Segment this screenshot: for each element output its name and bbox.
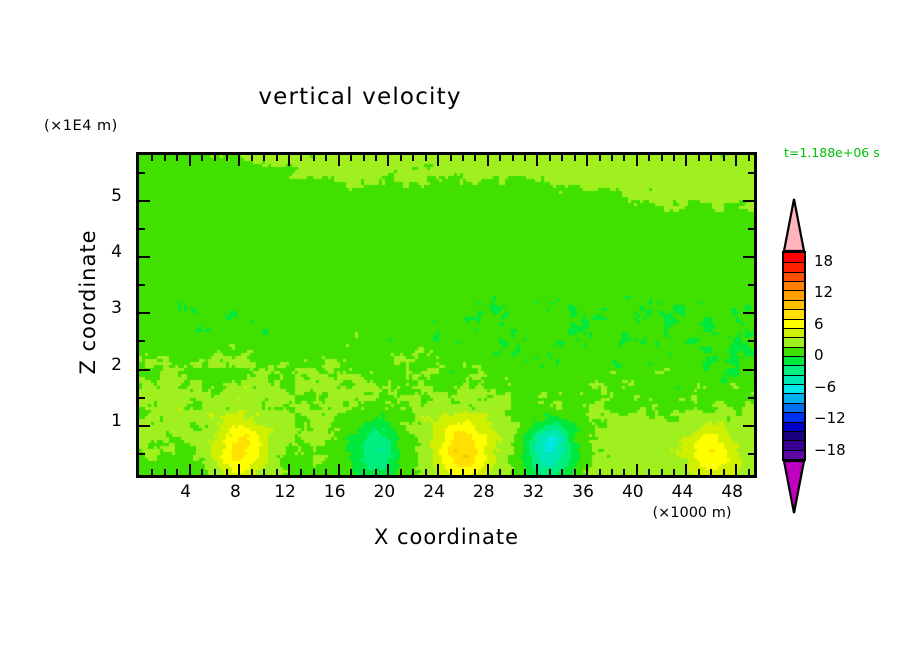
x-axis-tick-label: 48	[712, 482, 752, 502]
y-axis-major-tick	[743, 256, 754, 258]
colorbar-band-divider	[784, 440, 804, 441]
x-axis-minor-tick	[710, 469, 712, 475]
x-axis-minor-tick	[648, 155, 650, 161]
x-axis-minor-tick	[673, 155, 675, 161]
x-axis-minor-tick	[425, 155, 427, 161]
x-axis-minor-tick	[462, 155, 464, 161]
x-axis-minor-tick	[450, 155, 452, 161]
colorbar-band-divider	[784, 356, 804, 357]
x-axis-major-tick	[536, 464, 538, 475]
x-axis-major-tick	[437, 155, 439, 166]
x-axis-minor-tick	[599, 155, 601, 161]
x-axis-major-tick	[387, 464, 389, 475]
colorbar-band-divider	[784, 328, 804, 329]
x-axis-minor-tick	[661, 469, 663, 475]
colorbar-band-divider	[784, 290, 804, 291]
timestamp-label: t=1.188e+06 s	[784, 145, 880, 160]
y-axis-minor-tick	[748, 228, 754, 230]
y-axis-minor-tick	[139, 397, 145, 399]
colorbar-band	[784, 403, 804, 413]
x-axis-minor-tick	[375, 155, 377, 161]
y-axis-minor-tick	[748, 284, 754, 286]
x-axis-major-tick	[487, 464, 489, 475]
x-axis-minor-tick	[524, 469, 526, 475]
x-axis-minor-tick	[698, 155, 700, 161]
colorbar-band	[784, 300, 804, 310]
x-axis-minor-tick	[313, 155, 315, 161]
velocity-field-canvas	[139, 155, 757, 478]
x-axis-tick-label: 28	[464, 482, 504, 502]
colorbar-band	[784, 337, 804, 347]
x-axis-tick-label: 40	[613, 482, 653, 502]
colorbar-under-arrow	[782, 459, 806, 515]
colorbar-band	[784, 440, 804, 450]
colorbar-band-divider	[784, 309, 804, 310]
y-axis-minor-tick	[139, 453, 145, 455]
x-axis-major-tick	[338, 464, 340, 475]
colorbar-band	[784, 431, 804, 441]
colorbar-band-divider	[784, 384, 804, 385]
x-axis-major-tick	[288, 464, 290, 475]
colorbar-over-arrow	[782, 197, 806, 253]
x-axis-major-tick	[387, 155, 389, 166]
y-axis-tick-label: 4	[96, 242, 122, 262]
colorbar-band-divider	[784, 300, 804, 301]
x-axis-major-tick	[189, 155, 191, 166]
x-axis-major-tick	[238, 155, 240, 166]
x-axis-minor-tick	[425, 469, 427, 475]
y-axis-minor-tick	[748, 453, 754, 455]
y-axis-minor-tick	[748, 340, 754, 342]
x-axis-minor-tick	[226, 469, 228, 475]
x-axis-minor-tick	[263, 155, 265, 161]
x-axis-minor-tick	[549, 469, 551, 475]
x-axis-minor-tick	[164, 469, 166, 475]
colorbar-tick-label: −12	[814, 409, 846, 427]
x-axis-minor-tick	[176, 155, 178, 161]
colorbar-band-divider	[784, 431, 804, 432]
x-axis-minor-tick	[648, 469, 650, 475]
x-axis-minor-tick	[673, 469, 675, 475]
y-axis-minor-tick	[139, 340, 145, 342]
x-axis-minor-tick	[748, 469, 750, 475]
x-axis-tick-label: 32	[513, 482, 553, 502]
colorbar-band-divider	[784, 450, 804, 451]
y-axis-minor-tick	[139, 228, 145, 230]
x-axis-minor-tick	[574, 155, 576, 161]
x-axis-minor-tick	[226, 155, 228, 161]
colorbar-band	[784, 347, 804, 357]
x-axis-minor-tick	[325, 155, 327, 161]
x-axis-minor-tick	[214, 469, 216, 475]
x-axis-minor-tick	[499, 155, 501, 161]
x-axis-minor-tick	[313, 469, 315, 475]
x-axis-major-tick	[238, 464, 240, 475]
x-axis-minor-tick	[623, 469, 625, 475]
x-axis-minor-tick	[561, 155, 563, 161]
x-axis-minor-tick	[748, 155, 750, 161]
colorbar: 181260−6−12−18	[782, 197, 806, 515]
colorbar-band-divider	[784, 281, 804, 282]
colorbar-band	[784, 384, 804, 394]
x-axis-minor-tick	[611, 469, 613, 475]
x-axis-minor-tick	[363, 155, 365, 161]
y-axis-minor-tick	[748, 397, 754, 399]
colorbar-band-divider	[784, 393, 804, 394]
chart-title: vertical velocity	[0, 84, 720, 110]
x-axis-major-tick	[685, 155, 687, 166]
x-axis-minor-tick	[400, 469, 402, 475]
x-axis-tick-label: 44	[662, 482, 702, 502]
x-axis-major-tick	[636, 155, 638, 166]
x-axis-minor-tick	[350, 155, 352, 161]
colorbar-tick-label: 6	[814, 315, 824, 333]
colorbar-tick-label: 18	[814, 252, 833, 270]
x-axis-major-tick	[636, 464, 638, 475]
x-axis-minor-tick	[176, 469, 178, 475]
x-axis-minor-tick	[350, 469, 352, 475]
colorbar-band	[784, 356, 804, 366]
y-axis-major-tick	[139, 256, 150, 258]
colorbar-tick-label: 12	[814, 283, 833, 301]
x-axis-minor-tick	[263, 469, 265, 475]
y-axis-minor-tick	[139, 284, 145, 286]
x-axis-minor-tick	[325, 469, 327, 475]
x-axis-minor-tick	[462, 469, 464, 475]
colorbar-band	[784, 375, 804, 385]
x-axis-minor-tick	[251, 155, 253, 161]
colorbar-band	[784, 272, 804, 282]
colorbar-band	[784, 422, 804, 432]
colorbar-band	[784, 281, 804, 291]
x-axis-major-tick	[536, 155, 538, 166]
x-axis-minor-tick	[363, 469, 365, 475]
x-axis-minor-tick	[661, 155, 663, 161]
colorbar-tick-label: −6	[814, 378, 836, 396]
x-axis-minor-tick	[400, 155, 402, 161]
y-axis-units: (×1E4 m)	[44, 118, 118, 134]
colorbar-band-divider	[784, 365, 804, 366]
colorbar-band	[784, 328, 804, 338]
y-axis-major-tick	[139, 312, 150, 314]
colorbar-tick-label: −18	[814, 441, 846, 459]
colorbar-band-divider	[784, 272, 804, 273]
colorbar-band	[784, 365, 804, 375]
colorbar-band-divider	[784, 347, 804, 348]
x-axis-major-tick	[338, 155, 340, 166]
colorbar-band-divider	[784, 422, 804, 423]
x-axis-minor-tick	[474, 155, 476, 161]
y-axis-major-tick	[743, 369, 754, 371]
colorbar-band	[784, 393, 804, 403]
x-axis-minor-tick	[450, 469, 452, 475]
x-axis-minor-tick	[300, 155, 302, 161]
x-axis-tick-label: 4	[166, 482, 206, 502]
colorbar-band	[784, 309, 804, 319]
x-axis-major-tick	[487, 155, 489, 166]
y-axis-major-tick	[743, 200, 754, 202]
y-axis-major-tick	[743, 312, 754, 314]
x-axis-minor-tick	[549, 155, 551, 161]
y-axis-major-tick	[139, 369, 150, 371]
x-axis-minor-tick	[499, 469, 501, 475]
y-axis-major-tick	[139, 200, 150, 202]
colorbar-band-divider	[784, 403, 804, 404]
x-axis-minor-tick	[412, 469, 414, 475]
x-axis-tick-label: 20	[364, 482, 404, 502]
x-axis-tick-label: 8	[215, 482, 255, 502]
x-axis-units: (×1000 m)	[612, 505, 772, 521]
x-axis-minor-tick	[474, 469, 476, 475]
colorbar-bands	[782, 251, 806, 461]
x-axis-minor-tick	[723, 155, 725, 161]
x-axis-tick-label: 36	[563, 482, 603, 502]
colorbar-band-divider	[784, 375, 804, 376]
x-axis-minor-tick	[623, 155, 625, 161]
colorbar-band-divider	[784, 412, 804, 413]
x-axis-minor-tick	[276, 469, 278, 475]
x-axis-minor-tick	[251, 469, 253, 475]
x-axis-minor-tick	[611, 155, 613, 161]
x-axis-minor-tick	[524, 155, 526, 161]
vertical-velocity-plot: vertical velocity (×1E4 m) Z coordinate …	[0, 0, 904, 654]
x-axis-minor-tick	[214, 155, 216, 161]
x-axis-tick-label: 16	[315, 482, 355, 502]
x-axis-major-tick	[288, 155, 290, 166]
x-axis-minor-tick	[561, 469, 563, 475]
x-axis-minor-tick	[599, 469, 601, 475]
x-axis-major-tick	[437, 464, 439, 475]
colorbar-band-divider	[784, 319, 804, 320]
x-axis-minor-tick	[276, 155, 278, 161]
colorbar-tick-label: 0	[814, 346, 824, 364]
y-axis-minor-tick	[748, 172, 754, 174]
x-axis-minor-tick	[723, 469, 725, 475]
x-axis-major-tick	[735, 155, 737, 166]
y-axis-tick-label: 3	[96, 298, 122, 318]
contour-plot-area	[136, 152, 757, 478]
y-axis-major-tick	[743, 425, 754, 427]
y-axis-minor-tick	[139, 172, 145, 174]
x-axis-minor-tick	[710, 155, 712, 161]
y-axis-tick-label: 2	[96, 355, 122, 375]
y-axis-tick-label: 5	[96, 186, 122, 206]
colorbar-band	[784, 319, 804, 329]
x-axis-major-tick	[586, 464, 588, 475]
x-axis-minor-tick	[151, 469, 153, 475]
x-axis-tick-label: 12	[265, 482, 305, 502]
x-axis-minor-tick	[698, 469, 700, 475]
y-axis-major-tick	[139, 425, 150, 427]
colorbar-band	[784, 290, 804, 300]
x-axis-minor-tick	[151, 155, 153, 161]
colorbar-band	[784, 450, 804, 460]
x-axis-major-tick	[586, 155, 588, 166]
x-axis-minor-tick	[375, 469, 377, 475]
x-axis-minor-tick	[300, 469, 302, 475]
y-axis-tick-label: 1	[96, 411, 122, 431]
x-axis-tick-label: 24	[414, 482, 454, 502]
colorbar-band	[784, 253, 804, 263]
x-axis-major-tick	[735, 464, 737, 475]
colorbar-band-divider	[784, 337, 804, 338]
x-axis-minor-tick	[574, 469, 576, 475]
x-axis-minor-tick	[201, 469, 203, 475]
colorbar-band-divider	[784, 262, 804, 263]
x-axis-minor-tick	[201, 155, 203, 161]
x-axis-minor-tick	[412, 155, 414, 161]
x-axis-major-tick	[685, 464, 687, 475]
x-axis-title: X coordinate	[136, 525, 757, 549]
colorbar-band	[784, 412, 804, 422]
colorbar-band	[784, 262, 804, 272]
x-axis-minor-tick	[164, 155, 166, 161]
x-axis-minor-tick	[512, 469, 514, 475]
x-axis-major-tick	[189, 464, 191, 475]
x-axis-minor-tick	[512, 155, 514, 161]
